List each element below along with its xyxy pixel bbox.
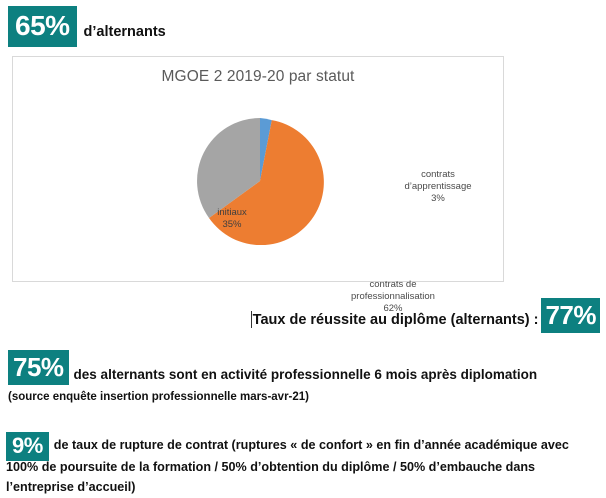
stat-activite: 75% des alternants sont en activité prof… (8, 350, 602, 403)
pie-label-apprentissage-line2: d’apprentissage (383, 181, 493, 193)
pie-label-initiaux-line1: initiaux (203, 207, 261, 219)
activite-value-badge: 75% (8, 350, 69, 385)
pie-label-apprentissage-line1: contrats (383, 169, 493, 181)
activite-source-note: (source enquête insertion professionnell… (8, 391, 602, 403)
stat-alternants: 65% d’alternants (8, 6, 166, 47)
text-caret (251, 311, 252, 328)
activite-headline: 75% des alternants sont en activité prof… (8, 350, 602, 385)
pie-label-professionnalisation-line1: contrats de (318, 279, 468, 291)
pie-label-apprentissage: contrats d’apprentissage 3% (383, 169, 493, 205)
rupture-value-badge: 9% (6, 432, 49, 461)
pie-chart-container: MGOE 2 2019-20 par statut contrats d’app… (12, 56, 504, 282)
alternants-value-badge: 65% (8, 6, 77, 47)
stat-rupture: 9%de taux de rupture de contrat (rupture… (6, 428, 602, 498)
pie-label-initiaux-value: 35% (203, 219, 261, 231)
stat-reussite: Taux de réussite au diplôme (alternants)… (251, 298, 600, 333)
pie-label-initiaux: initiaux 35% (203, 207, 261, 231)
pie-label-apprentissage-value: 3% (383, 193, 493, 205)
rupture-paragraph: 9%de taux de rupture de contrat (rupture… (6, 428, 602, 498)
reussite-value-badge: 77% (541, 298, 600, 333)
activite-caption: des alternants sont en activité professi… (74, 367, 538, 385)
chart-title: MGOE 2 2019-20 par statut (13, 68, 503, 86)
rupture-caption: de taux de rupture de contrat (ruptures … (6, 438, 569, 494)
reussite-label: Taux de réussite au diplôme (alternants)… (253, 312, 539, 333)
alternants-caption: d’alternants (84, 24, 166, 47)
